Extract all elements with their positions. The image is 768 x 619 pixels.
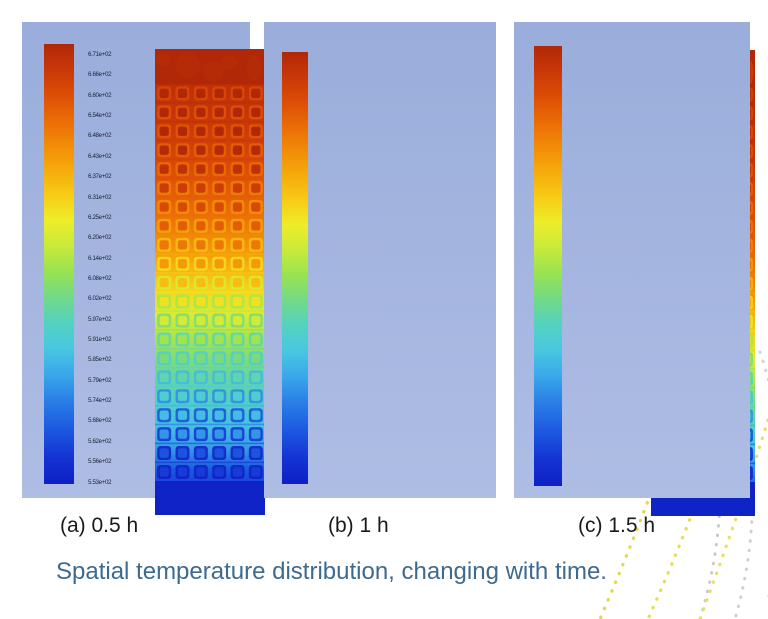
panel-a-tube-cell-core (233, 278, 242, 287)
panel-a-tube-cell-core (178, 297, 187, 306)
panel-a-tube-cell-core (251, 297, 260, 306)
panel-a-tube-cell-core (178, 429, 187, 438)
panel-a-tube-cell-core (196, 316, 205, 325)
panel-a-row-divider (155, 234, 265, 236)
panel-a-tube-cell-core (160, 373, 169, 382)
panel-a-tube-cell-core (196, 373, 205, 382)
panel-a-tube-cell-core (215, 392, 224, 401)
panel-a-tube-cell-core (251, 259, 260, 268)
panel-a-tube-cell-core (178, 392, 187, 401)
panel-a-tube-cell-core (196, 202, 205, 211)
panel-a-tube-cell-core (160, 429, 169, 438)
panel-a-tube-cell-core (160, 335, 169, 344)
panel-a-tick-label: 5.53e+02 (88, 480, 111, 486)
panel-a-tick-label: 5.62e+02 (88, 439, 111, 445)
panel-a-tube-cell-core (215, 278, 224, 287)
panel-a-row-divider (155, 310, 265, 312)
panel-a-tube-cell-core (178, 108, 187, 117)
panel-a-tube-cell-core (251, 411, 260, 420)
panel-a-tube-cell-core (178, 240, 187, 249)
panel-a-row-divider (155, 329, 265, 331)
panel-a-tube-cell-core (251, 146, 260, 155)
panel-a-tube-cell-core (178, 127, 187, 136)
panel-a-row-divider (155, 291, 265, 293)
panel-a-tube-cell-core (251, 89, 260, 98)
panel-a-tube-cell-core (233, 316, 242, 325)
panel-a-tube-cell-core (160, 202, 169, 211)
panel-a-tube-cell-core (233, 373, 242, 382)
panel-a-row-divider (155, 121, 265, 123)
panel-a-tube-cell-core (251, 335, 260, 344)
panel-a-tube-cell-core (178, 316, 187, 325)
panel-c-colorbar (534, 46, 562, 486)
figure-main-caption: Spatial temperature distribution, changi… (56, 558, 607, 586)
panel-a-tube-cell-core (178, 411, 187, 420)
panel-a-tube-cell-core (251, 354, 260, 363)
panel-a-tube-cell-core (160, 297, 169, 306)
panel-a-row-divider (155, 159, 265, 161)
panel-a-tube-cell-core (178, 278, 187, 287)
panel-a-tube-cell-core (233, 164, 242, 173)
panel-a-tube-cell-core (215, 240, 224, 249)
panel-a-tube-cell-core (178, 164, 187, 173)
panel-a-tube-cell-core (160, 411, 169, 420)
panel-a-tick-label: 5.85e+02 (88, 357, 111, 363)
panel-a-colorbar (44, 44, 74, 484)
panel-a-cell-grid (155, 49, 265, 515)
panel-a-row-divider (155, 272, 265, 274)
panel-a-tube-cell-core (215, 146, 224, 155)
panel-a-tube-cell-core (160, 89, 169, 98)
panel-a-tube-cell-core (178, 335, 187, 344)
panel-a-tube-cell-core (233, 335, 242, 344)
panel-a-tube-cell-core (233, 411, 242, 420)
panel-a-tube-cell-core (178, 183, 187, 192)
panel-a-tube-cell-core (215, 354, 224, 363)
panel-a-tube-cell-core (233, 297, 242, 306)
panel-a-tube-cell-core (215, 467, 224, 476)
panel-a-tube-cell-core (233, 89, 242, 98)
panel-a-tube-cell-core (178, 467, 187, 476)
panel-a-tube-cell-core (251, 373, 260, 382)
panel-a-tube-cell-core (251, 429, 260, 438)
panel-a-tube-cell-core (233, 240, 242, 249)
panel-a-inlet-band (155, 481, 265, 515)
panel-a-tube-cell-core (251, 240, 260, 249)
panel-a-tube-cell-core (233, 146, 242, 155)
panel-a-contour-plot (155, 49, 265, 515)
panel-a-tube-cell-core (196, 146, 205, 155)
panel-a-tube-cell-core (178, 146, 187, 155)
panel-a-tube-cell-core (196, 164, 205, 173)
panel-a-tube-cell-core (160, 316, 169, 325)
panel-a-tube-cell-core (196, 297, 205, 306)
panel-a-tube-cell-core (233, 202, 242, 211)
panel-a-tube-cell-core (251, 127, 260, 136)
panel-a-tube-cell-core (251, 392, 260, 401)
panel-a-tube-cell-core (251, 278, 260, 287)
panel-a-plenum-swirl (220, 55, 237, 69)
panel-a-plenum-swirl (156, 52, 170, 66)
panel-a-tube-cell-core (196, 259, 205, 268)
panel-a-tube-cell-core (215, 335, 224, 344)
panel-a-row-divider (155, 405, 265, 407)
panel-a-tube-cell-core (215, 221, 224, 230)
panel-a-tube-cell-core (160, 221, 169, 230)
panel-a-tube-cell-core (196, 354, 205, 363)
panel-a-tube-cell-core (178, 448, 187, 457)
panel-a-tube-cell-core (160, 392, 169, 401)
panel-a-row-divider (155, 367, 265, 369)
panel-a-tube-cell-core (215, 373, 224, 382)
panel-a-tube-cell-core (160, 146, 169, 155)
panel-a-tube-cell-core (196, 89, 205, 98)
panel-a-tube-cells (155, 49, 265, 515)
panel-a-tube-cell-core (178, 221, 187, 230)
panel-a-row-divider (155, 140, 265, 142)
panel-a-tube-cell-core (160, 354, 169, 363)
panel-a-tube-cell-core (215, 108, 224, 117)
panel-a-tube-cell-core (215, 448, 224, 457)
panel-a-tick-label: 6.37e+02 (88, 174, 111, 180)
panel-a: 6.71e+026.66e+026.60e+026.54e+026.48e+02… (22, 22, 250, 498)
panel-a-row-divider (155, 197, 265, 199)
panel-a-tick-label: 6.60e+02 (88, 93, 111, 99)
panel-a-tube-cell-core (233, 108, 242, 117)
panel-a-tube-cell-core (196, 392, 205, 401)
panel-a-row-divider (155, 462, 265, 464)
panel-a-caption: (a) 0.5 h (60, 514, 138, 538)
panel-a-tube-cell-core (196, 429, 205, 438)
panel-a-plenum-swirl (176, 52, 200, 78)
panel-a-tick-labels: 6.71e+026.66e+026.60e+026.54e+026.48e+02… (88, 52, 111, 486)
panel-a-tube-cell-core (233, 354, 242, 363)
panel-a-tick-label: 6.20e+02 (88, 235, 111, 241)
panel-a-row-divider (155, 178, 265, 180)
panel-a-tube-cell-core (215, 411, 224, 420)
panel-a-tube-cell-core (251, 108, 260, 117)
panel-a-tube-cell-core (196, 335, 205, 344)
panel-a-tick-label: 5.79e+02 (88, 378, 111, 384)
panel-a-tube-cell-core (215, 202, 224, 211)
panel-a-plenum-swirl (203, 61, 224, 81)
panel-a-tube-cell-core (196, 448, 205, 457)
panel-a-tube-cell-core (251, 316, 260, 325)
panel-a-tube-cell-core (215, 316, 224, 325)
panel-a-tube-cell-core (233, 448, 242, 457)
panel-a-row-divider (155, 443, 265, 445)
panel-a-tube-cell-core (215, 259, 224, 268)
panel-a-tube-cell-core (196, 278, 205, 287)
panel-c: 6.65e+026.59e+026.54e+026.48e+026.42e+02… (514, 22, 750, 498)
panel-a-tube-cell-core (196, 183, 205, 192)
panel-a-tube-cell-core (196, 411, 205, 420)
panel-a-row-divider (155, 424, 265, 426)
panel-a-tube-cell-core (160, 108, 169, 117)
panel-a-tube-cell-core (178, 259, 187, 268)
panel-b-caption: (b) 1 h (328, 514, 389, 538)
panel-a-tube-cell-core (251, 467, 260, 476)
panel-a-tube-cell-core (160, 467, 169, 476)
panel-a-tube-cell-core (233, 127, 242, 136)
panel-a-tick-label: 6.43e+02 (88, 154, 111, 160)
panel-a-tick-label: 5.91e+02 (88, 337, 111, 343)
panel-a-tick-label: 6.25e+02 (88, 215, 111, 221)
panel-a-tube-cell-core (215, 297, 224, 306)
panel-a-tube-cell-core (178, 89, 187, 98)
panel-a-tube-cell-core (233, 429, 242, 438)
figure-container: 6.71e+026.66e+026.60e+026.54e+026.48e+02… (0, 0, 768, 619)
panel-a-row-divider (155, 253, 265, 255)
panel-a-row-divider (155, 102, 265, 104)
panel-a-tube-cell-core (196, 127, 205, 136)
panel-a-tick-label: 5.97e+02 (88, 317, 111, 323)
panel-a-tube-cell-core (160, 240, 169, 249)
panel-a-tube-cell-core (196, 108, 205, 117)
panel-a-tube-cell-core (251, 164, 260, 173)
panel-a-tick-label: 6.48e+02 (88, 133, 111, 139)
panel-a-tube-cell-core (178, 202, 187, 211)
panel-a-tick-label: 6.31e+02 (88, 195, 111, 201)
panel-a-tick-label: 6.71e+02 (88, 52, 111, 58)
panel-a-tube-cell-core (233, 183, 242, 192)
panel-a-tube-cell-core (251, 183, 260, 192)
panel-c-caption: (c) 1.5 h (578, 514, 655, 538)
panel-a-tube-cell-core (160, 278, 169, 287)
panel-a-tube-cell-core (233, 467, 242, 476)
panel-a-tick-label: 5.68e+02 (88, 418, 111, 424)
panel-a-row-divider (155, 215, 265, 217)
panel-a-tube-cell-core (160, 183, 169, 192)
panel-a-row-divider (155, 348, 265, 350)
panel-a-tube-cell-core (251, 448, 260, 457)
panel-a-tube-cell-core (160, 164, 169, 173)
panel-a-tube-cell-core (160, 448, 169, 457)
panel-a-row-divider (155, 386, 265, 388)
panel-a-tube-cell-core (160, 127, 169, 136)
panel-a-tube-cell-core (215, 183, 224, 192)
panel-a-tick-label: 6.02e+02 (88, 296, 111, 302)
panel-a-tick-label: 5.56e+02 (88, 459, 111, 465)
panel-b-colorbar (282, 52, 308, 484)
panel-a-tube-cell-core (233, 221, 242, 230)
panel-a-tube-cell-core (251, 221, 260, 230)
panel-a-tube-cell-core (215, 127, 224, 136)
panel-a-tick-label: 6.54e+02 (88, 113, 111, 119)
panel-a-tick-label: 6.08e+02 (88, 276, 111, 282)
panel-a-tube-cell-core (196, 221, 205, 230)
panel-a-tube-cell-core (215, 89, 224, 98)
panel-a-tube-cell-core (233, 392, 242, 401)
panel-a-tube-cell-core (160, 259, 169, 268)
panel-a-tube-cell-core (215, 164, 224, 173)
panel-a-tube-cell-core (196, 467, 205, 476)
panel-a-tick-label: 6.14e+02 (88, 256, 111, 262)
panel-a-tick-label: 5.74e+02 (88, 398, 111, 404)
panel-a-plenum-swirl (247, 55, 261, 81)
panel-a-tube-cell-core (215, 429, 224, 438)
panel-a-tube-cell-core (233, 259, 242, 268)
panel-b: 6.07e+026.03e+025.99e+025.95e+025.92e+02… (264, 22, 496, 498)
panel-a-tube-cell-core (196, 240, 205, 249)
panel-a-tick-label: 6.66e+02 (88, 72, 111, 78)
panel-a-tube-cell-core (178, 354, 187, 363)
panel-a-tube-cell-core (178, 373, 187, 382)
panel-a-tube-cell-core (251, 202, 260, 211)
